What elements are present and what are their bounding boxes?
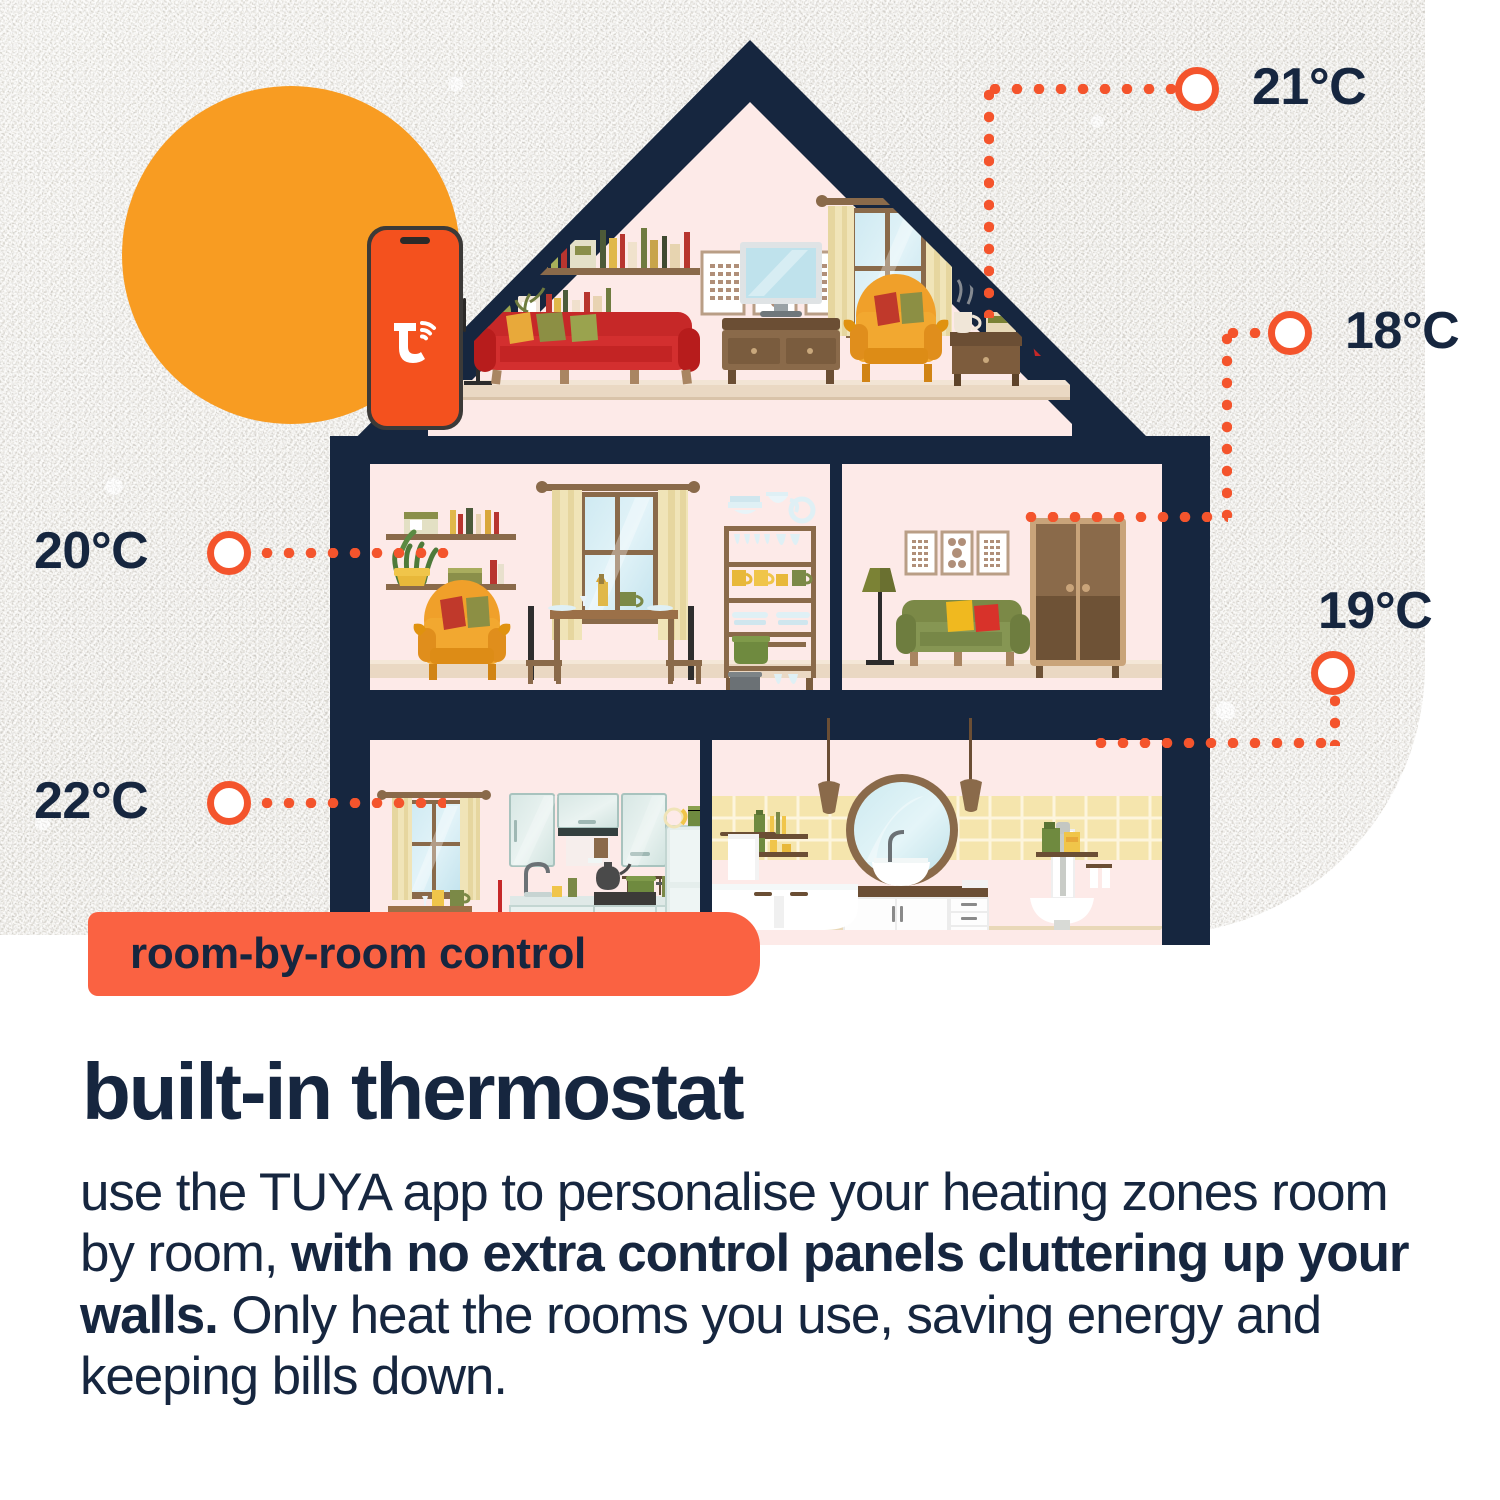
temperature-marker-ring-dining[interactable] bbox=[207, 531, 251, 575]
temperature-label-dining: 20°C bbox=[34, 521, 148, 581]
connector-line-bedroom-vertical bbox=[1222, 328, 1232, 518]
tuya-t-wifi-logo bbox=[384, 305, 446, 367]
house-svg bbox=[330, 40, 1210, 945]
connector-line-kitchen-horizontal bbox=[256, 798, 446, 808]
temperature-marker-ring-bedroom[interactable] bbox=[1268, 311, 1312, 355]
temperature-label-bedroom: 18°C bbox=[1345, 301, 1459, 361]
connector-line-bathroom-horizontal bbox=[1090, 738, 1338, 748]
temperature-label-kitchen: 22°C bbox=[34, 771, 148, 831]
temperature-marker-ring-attic[interactable] bbox=[1175, 67, 1219, 111]
temperature-label-attic: 21°C bbox=[1252, 57, 1366, 117]
phone-notch bbox=[400, 237, 430, 244]
tuya-app-badge-circle bbox=[122, 86, 460, 424]
bathroom-contents bbox=[712, 718, 1162, 945]
badge-label: room-by-room control bbox=[130, 929, 586, 979]
paragraph-part-3: Only heat the rooms you use, saving ener… bbox=[80, 1286, 1321, 1406]
smartphone-mockup[interactable] bbox=[367, 226, 463, 430]
infographic-canvas: 21°C 18°C 19°C 20°C 22°C room-by-room co… bbox=[0, 0, 1500, 1500]
temperature-marker-ring-bathroom[interactable] bbox=[1311, 651, 1355, 695]
dining-room-contents bbox=[370, 464, 830, 690]
phone-power-button bbox=[463, 298, 466, 332]
house-cross-section-illustration bbox=[330, 40, 1210, 945]
phone-screen bbox=[371, 230, 459, 426]
room-by-room-control-badge: room-by-room control bbox=[88, 912, 760, 996]
connector-line-bedroom-horizontal-lower bbox=[1020, 512, 1228, 522]
body-paragraph: use the TUYA app to personalise your hea… bbox=[80, 1162, 1430, 1408]
connector-line-dining-horizontal bbox=[256, 548, 450, 558]
page-title: built-in thermostat bbox=[82, 1052, 742, 1132]
connector-line-attic-horizontal bbox=[984, 84, 1180, 94]
temperature-marker-ring-kitchen[interactable] bbox=[207, 781, 251, 825]
connector-line-attic-vertical bbox=[984, 84, 994, 318]
bedroom-contents bbox=[842, 464, 1162, 690]
temperature-label-bathroom: 19°C bbox=[1318, 581, 1432, 641]
